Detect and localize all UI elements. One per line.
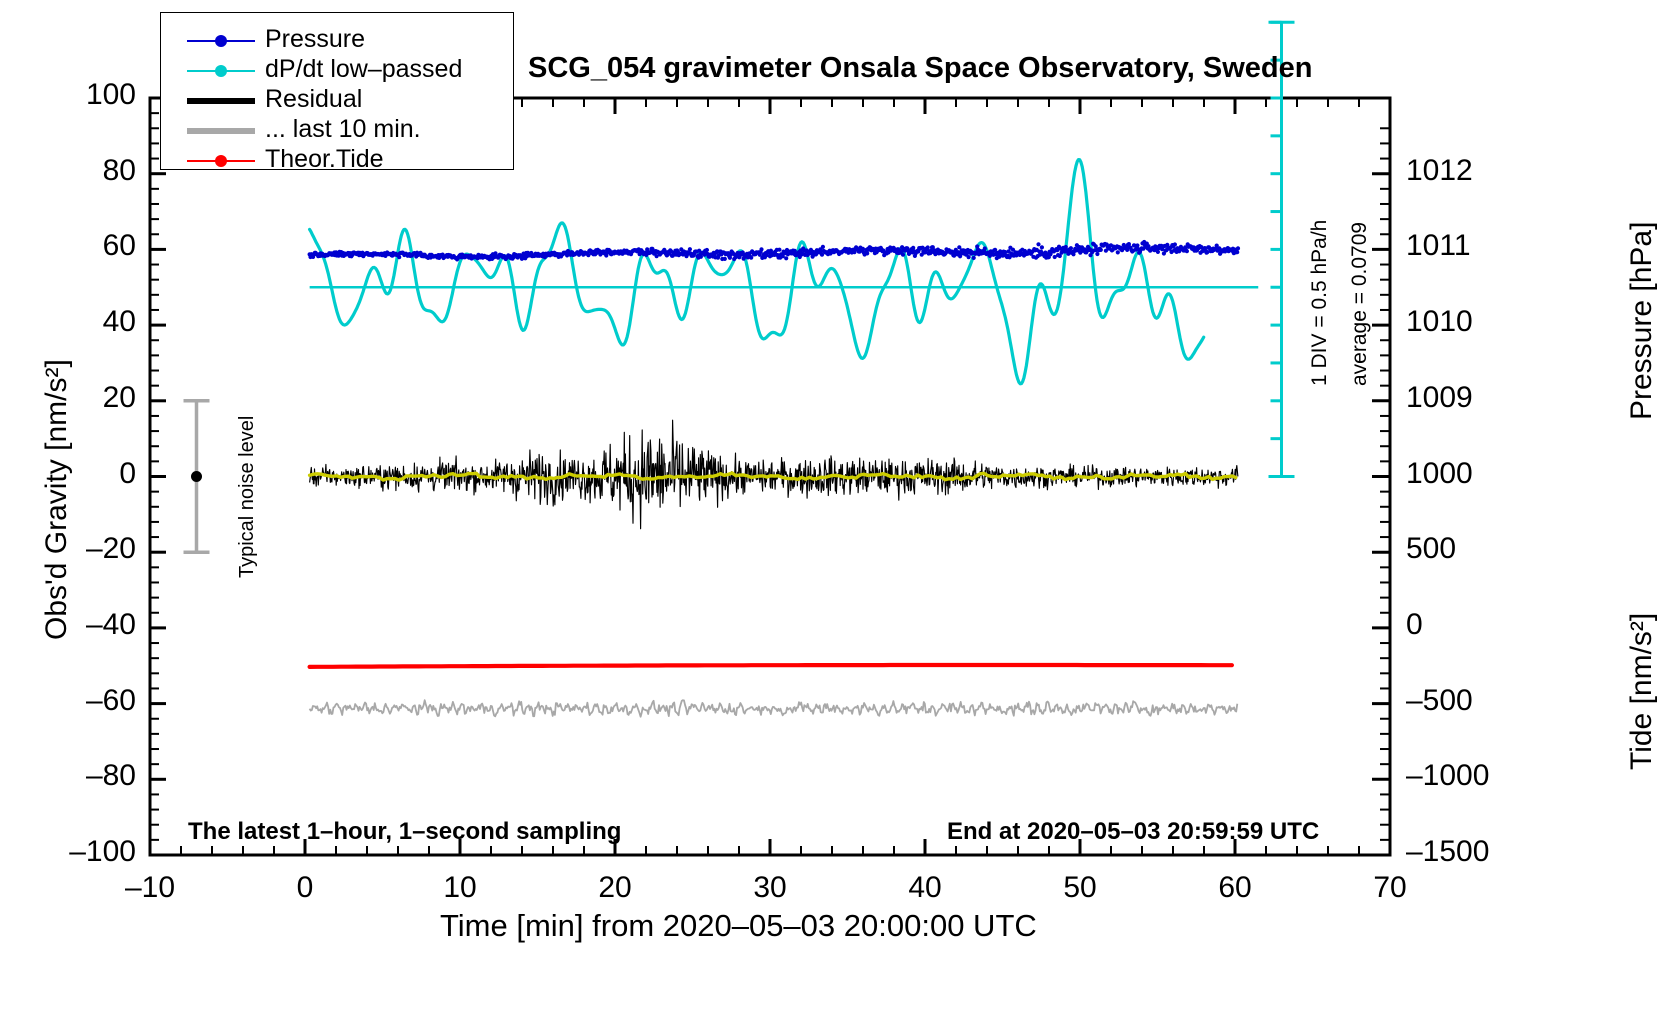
scale-bar-label-average: average = 0.0709 xyxy=(1348,222,1372,386)
legend-item-2: Residual xyxy=(265,85,362,114)
y-axis-label-tide: Tide [nm/s²] xyxy=(1625,613,1659,770)
legend-item-4: Theor.Tide xyxy=(265,145,384,174)
legend-item-1: dP/dt low–passed xyxy=(265,55,462,84)
pressure-tick-label: 1012 xyxy=(1406,154,1473,188)
pressure-tick-label: 1010 xyxy=(1406,305,1473,339)
x-tick-label: 50 xyxy=(1054,871,1106,905)
x-tick-label: 0 xyxy=(279,871,331,905)
bottom-right-note: End at 2020–05–03 20:59:59 UTC xyxy=(947,818,1319,846)
y-tick-label: –60 xyxy=(8,684,136,718)
legend-item-3: ... last 10 min. xyxy=(265,115,421,144)
x-tick-label: 30 xyxy=(744,871,796,905)
noise-bar-label: Typical noise level xyxy=(236,416,259,578)
y-tick-label: 0 xyxy=(8,457,136,491)
x-tick-label: 40 xyxy=(899,871,951,905)
x-tick-label: –10 xyxy=(124,871,176,905)
legend: PressuredP/dt low–passedResidual... last… xyxy=(160,12,514,170)
y-tick-label: 60 xyxy=(8,229,136,263)
tide-tick-label: 500 xyxy=(1406,532,1456,566)
tide-tick-label: 1000 xyxy=(1406,457,1473,491)
y-tick-label: –20 xyxy=(8,532,136,566)
chart-canvas: SCG_054 gravimeter Onsala Space Observat… xyxy=(0,0,1660,1020)
page-title: SCG_054 gravimeter Onsala Space Observat… xyxy=(528,52,1312,85)
x-tick-label: 10 xyxy=(434,871,486,905)
y-tick-label: –100 xyxy=(8,835,136,869)
x-tick-label: 70 xyxy=(1364,871,1416,905)
tide-tick-label: 0 xyxy=(1406,608,1423,642)
tide-tick-label: –1500 xyxy=(1406,835,1489,869)
y-tick-label: 20 xyxy=(8,381,136,415)
tide-tick-label: –500 xyxy=(1406,684,1473,718)
scale-bar-label-division: 1 DIV = 0.5 hPa/h xyxy=(1308,220,1332,386)
y-tick-label: 80 xyxy=(8,154,136,188)
y-tick-label: 40 xyxy=(8,305,136,339)
x-tick-label: 60 xyxy=(1209,871,1261,905)
pressure-tick-label: 1011 xyxy=(1406,229,1471,263)
tide-tick-label: –1000 xyxy=(1406,759,1489,793)
y-tick-label: 100 xyxy=(8,78,136,112)
pressure-tick-label: 1009 xyxy=(1406,381,1473,415)
legend-item-0: Pressure xyxy=(265,25,365,54)
x-axis-label: Time [min] from 2020–05–03 20:00:00 UTC xyxy=(440,908,1037,944)
bottom-left-note: The latest 1–hour, 1–second sampling xyxy=(188,818,621,846)
y-tick-label: –80 xyxy=(8,759,136,793)
x-tick-label: 20 xyxy=(589,871,641,905)
y-axis-label-pressure: Pressure [hPa] xyxy=(1625,222,1659,420)
y-tick-label: –40 xyxy=(8,608,136,642)
